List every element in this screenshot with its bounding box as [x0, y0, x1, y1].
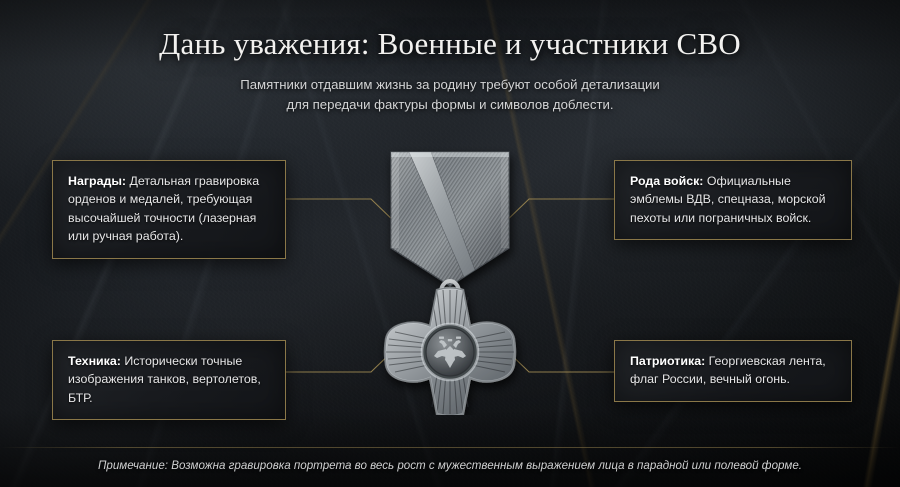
- callout-vehicles-label: Техника:: [68, 354, 121, 368]
- callout-patriotic[interactable]: Патриотика: Георгиевская лента, флаг Рос…: [614, 340, 852, 402]
- callout-branches-label: Рода войск:: [630, 174, 703, 188]
- subtitle-line-1: Памятники отдавшим жизнь за родину требу…: [240, 77, 660, 92]
- callout-awards[interactable]: Награды: Детальная гравировка орденов и …: [52, 160, 286, 259]
- page-subtitle: Памятники отдавшим жизнь за родину требу…: [0, 75, 900, 114]
- medal-illustration: [371, 140, 529, 415]
- subtitle-line-2: для передачи фактуры формы и символов до…: [286, 97, 613, 112]
- medal-cross: [385, 288, 515, 415]
- page-title: Дань уважения: Военные и участники СВО: [0, 24, 900, 64]
- footer-divider: [0, 447, 900, 448]
- callout-branches[interactable]: Рода войск: Официальные эмблемы ВДВ, спе…: [614, 160, 852, 240]
- callout-awards-label: Награды:: [68, 174, 126, 188]
- footer-note: Примечание: Возможна гравировка портрета…: [0, 458, 900, 474]
- infographic-slide: Дань уважения: Военные и участники СВО П…: [0, 0, 900, 487]
- header: Дань уважения: Военные и участники СВО П…: [0, 24, 900, 114]
- central-medallion: [422, 324, 478, 380]
- callout-vehicles[interactable]: Техника: Исторически точные изображения …: [52, 340, 286, 420]
- callout-patriotic-label: Патриотика:: [630, 354, 705, 368]
- medal-ribbon: [391, 152, 509, 286]
